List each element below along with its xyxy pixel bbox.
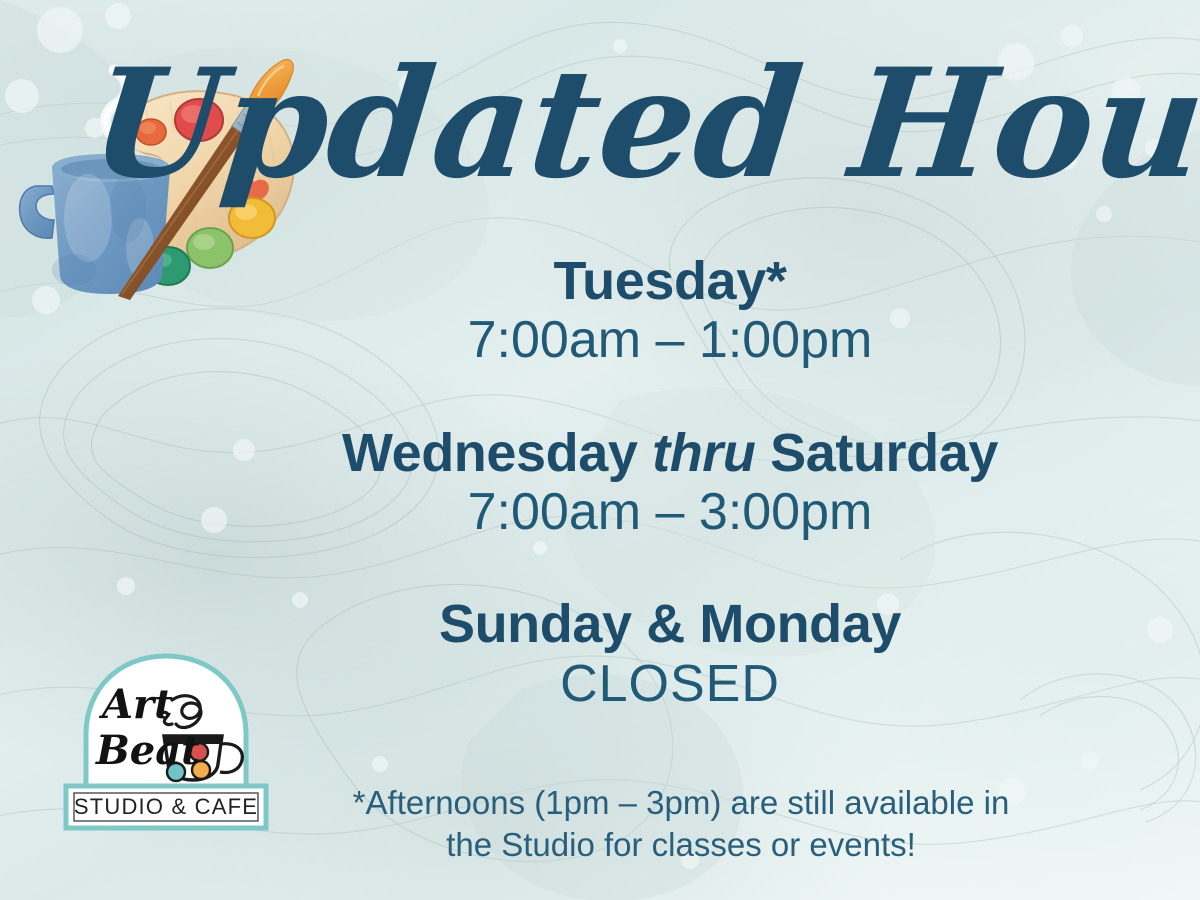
hours-list: Tuesday* 7:00am – 1:00pm Wednesday thru …: [260, 252, 1080, 715]
day-label-tuesday: Tuesday*: [260, 252, 1080, 310]
logo-banner-text: STUDIO & CAFE: [74, 794, 258, 819]
poster-canvas: Updated Hours Tuesday* 7:00am – 1:00pm W…: [0, 0, 1200, 900]
logo-word-art: Art: [98, 681, 173, 728]
day-label-wednesday-saturday: Wednesday thru Saturday: [260, 424, 1080, 482]
day-label-saturday: Saturday: [770, 423, 998, 483]
page-title: Updated Hours: [296, 48, 1180, 218]
hours-group-wednesday-saturday: Wednesday thru Saturday 7:00am – 3:00pm: [260, 424, 1080, 544]
art-beat-logo: Art Beat STUDIO & CAFE: [60, 652, 272, 834]
hours-group-tuesday: Tuesday* 7:00am – 1:00pm: [260, 252, 1080, 372]
day-label-wednesday: Wednesday: [342, 423, 638, 483]
logo-word-beat: Beat: [95, 727, 200, 774]
status-closed: CLOSED: [260, 654, 1080, 715]
hours-group-sunday-monday: Sunday & Monday CLOSED: [260, 595, 1080, 715]
time-tuesday: 7:00am – 1:00pm: [260, 310, 1080, 371]
day-label-sunday-monday: Sunday & Monday: [260, 595, 1080, 653]
time-wednesday-saturday: 7:00am – 3:00pm: [260, 482, 1080, 543]
page-title-text: Updated Hours: [84, 36, 1200, 212]
day-label-thru: thru: [652, 423, 755, 483]
footnote: *Afternoons (1pm – 3pm) are still availa…: [286, 782, 1076, 866]
footnote-line-1: *Afternoons (1pm – 3pm) are still availa…: [286, 782, 1076, 824]
footnote-line-2: the Studio for classes or events!: [286, 824, 1076, 866]
